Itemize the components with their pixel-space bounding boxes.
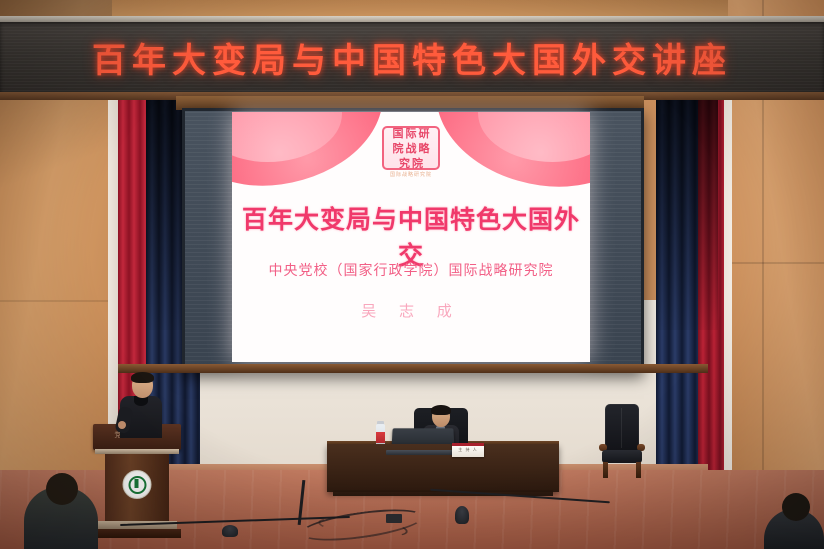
emblem-glyph: 研 — [418, 126, 431, 141]
armchair-back — [605, 404, 639, 452]
bottle-label — [376, 432, 385, 443]
right-curtain-shadow — [656, 100, 718, 330]
audience-head — [46, 473, 78, 505]
emblem-subtitle: 国际战略研究院 — [390, 171, 432, 178]
emblem-glyph: 际 — [405, 126, 418, 141]
microphone-base — [222, 525, 238, 537]
slide-organization: 中央党校（国家行政学院）国际战略研究院 — [232, 260, 590, 280]
emblem-glyph: 略 — [418, 141, 431, 156]
banner-title-text: 百年大变局与中国特色大国外交讲座 — [0, 26, 824, 88]
emblem-glyph: 究 — [398, 156, 411, 171]
audience-head — [782, 493, 810, 521]
microphone-base — [455, 506, 469, 524]
speaker-person — [118, 373, 162, 435]
stage-wall-rail — [118, 364, 708, 373]
presentation-slide: 国 际 研 院 战 略 究 院 国际战略研究院 百年大变局与中国特色大国外交 中… — [232, 112, 590, 362]
speaker-hand — [118, 421, 126, 429]
wall-seam-horizontal — [728, 262, 824, 264]
podium: 党校 讲坛 — [93, 424, 181, 534]
school-crest-icon — [123, 470, 152, 499]
slide-presenter-name: 吴 志 成 — [232, 300, 590, 321]
laptop-base — [386, 450, 460, 455]
name-card-text: 主 持 人 — [452, 447, 484, 453]
emblem-glyph: 院 — [392, 141, 405, 156]
wall-seam — [0, 300, 112, 302]
emblem-glyph: 国 — [392, 126, 405, 141]
emblem-glyph: 战 — [405, 141, 418, 156]
armchair-leg-right — [636, 462, 641, 478]
emblem-glyph: 院 — [411, 156, 424, 171]
floor-box — [386, 514, 402, 523]
guest-armchair — [599, 404, 645, 478]
institute-emblem-icon: 国 际 研 院 战 略 究 院 — [382, 126, 440, 170]
podium-foot — [93, 529, 181, 538]
armchair-leg-left — [603, 462, 608, 478]
speaker-hair — [131, 372, 154, 383]
lecture-hall-photo: 百年大变局与中国特色大国外交讲座 国 际 研 院 战 略 究 院 国际战略研究院… — [0, 0, 824, 549]
moderator-hair — [431, 405, 451, 415]
